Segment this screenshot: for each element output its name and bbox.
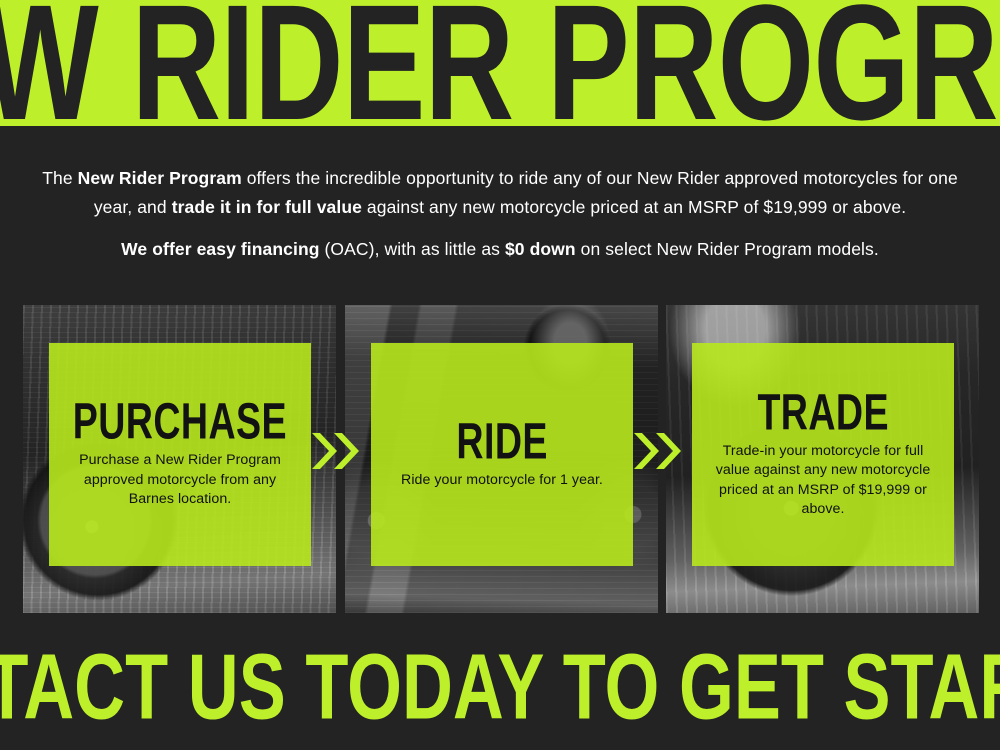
intro-p1-part3: against any new motorcycle priced at an …: [362, 197, 906, 217]
footer-cta-text: CONTACT US TODAY TO GET STARTED: [0, 644, 1000, 730]
intro-p2-part2: on select New Rider Program models.: [576, 239, 879, 259]
step-title-ride-text: RIDE: [456, 417, 547, 465]
intro-p2-bold1: We offer easy financing: [121, 239, 319, 259]
page-title: NEW RIDER PROGRAM: [0, 0, 1000, 126]
step-panel-ride: RIDE Ride your motorcycle for 1 year.: [345, 305, 658, 613]
intro-paragraph-1: The New Rider Program offers the incredi…: [36, 164, 964, 222]
footer-cta-label: CONTACT US TODAY TO GET STARTED: [0, 640, 1000, 733]
intro-paragraph-2: We offer easy financing (OAC), with as l…: [60, 236, 940, 262]
step-description-purchase: Purchase a New Rider Program approved mo…: [63, 451, 297, 510]
step-title-purchase: PURCHASE: [46, 399, 314, 443]
step-title-trade-text: TRADE: [757, 388, 889, 436]
step-panel-trade: TRADE Trade-in your motorcycle for full …: [666, 305, 979, 613]
steps-section: PURCHASE Purchase a New Rider Program ap…: [0, 305, 1000, 615]
intro-p2-part1: (OAC), with as little as: [320, 239, 505, 259]
intro-p1-part1: The: [42, 168, 77, 188]
step-title-purchase-text: PURCHASE: [73, 397, 287, 445]
promotional-poster: NEW RIDER PROGRAM The New Rider Program …: [0, 0, 1000, 750]
header-banner: NEW RIDER PROGRAM: [0, 0, 1000, 126]
double-chevron-right-icon: [632, 430, 686, 472]
intro-section: The New Rider Program offers the incredi…: [0, 126, 1000, 298]
step-card-trade: TRADE Trade-in your motorcycle for full …: [692, 343, 954, 566]
step-description-trade: Trade-in your motorcycle for full value …: [706, 442, 940, 520]
intro-p2-bold2: $0 down: [505, 239, 576, 259]
intro-p1-bold2: trade it in for full value: [172, 197, 362, 217]
intro-p1-bold1: New Rider Program: [78, 168, 242, 188]
step-card-ride: RIDE Ride your motorcycle for 1 year.: [371, 343, 633, 566]
page-title-text: NEW RIDER PROGRAM: [0, 0, 1000, 126]
step-panel-purchase: PURCHASE Purchase a New Rider Program ap…: [23, 305, 336, 613]
step-title-ride: RIDE: [445, 419, 559, 463]
step-description-ride: Ride your motorcycle for 1 year.: [401, 471, 603, 491]
footer-cta-section: CONTACT US TODAY TO GET STARTED: [0, 618, 1000, 750]
step-card-purchase: PURCHASE Purchase a New Rider Program ap…: [49, 343, 311, 566]
double-chevron-right-icon: [310, 430, 364, 472]
step-title-trade: TRADE: [741, 390, 905, 434]
